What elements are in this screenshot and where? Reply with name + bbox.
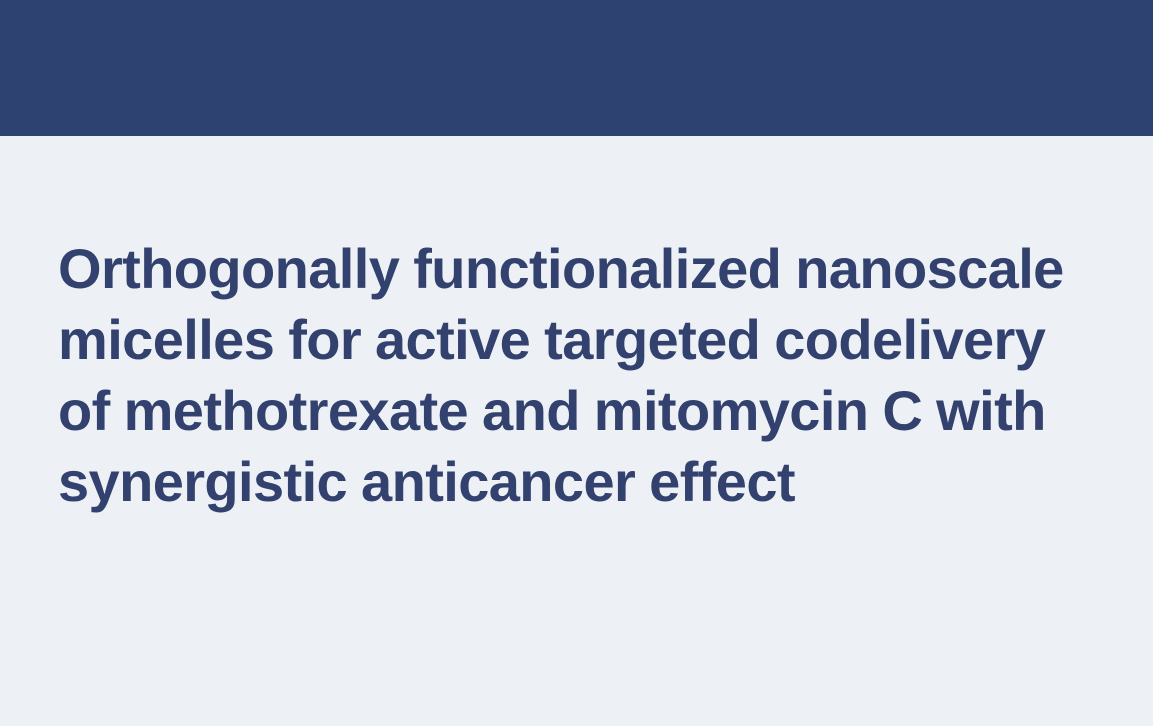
site-header-bar: [0, 0, 1153, 136]
page-title: Orthogonally functionalized nanoscale mi…: [58, 233, 1103, 517]
main-content: Orthogonally functionalized nanoscale mi…: [0, 136, 1153, 726]
page-root: Orthogonally functionalized nanoscale mi…: [0, 0, 1153, 726]
